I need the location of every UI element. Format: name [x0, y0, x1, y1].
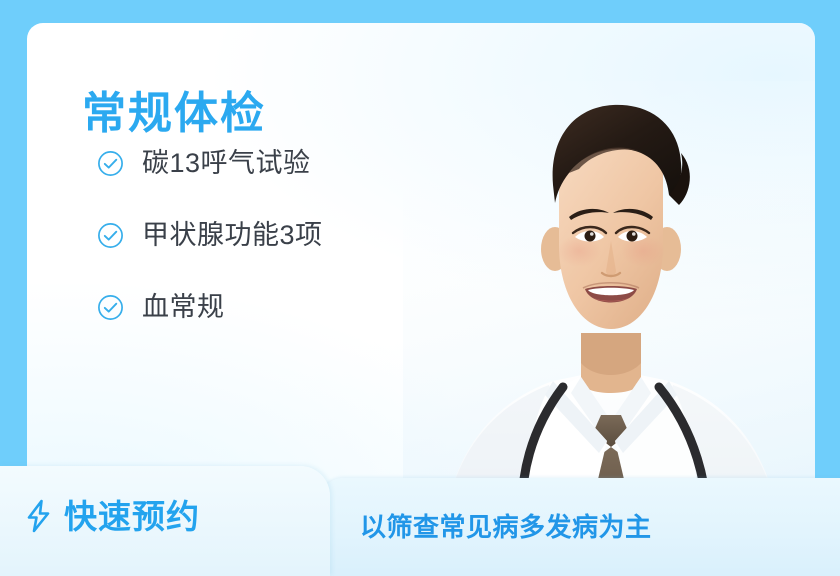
check-circle-icon — [97, 150, 124, 177]
feature-list: 碳13呼气试验 甲状腺功能3项 血常规 — [97, 146, 323, 324]
list-item: 血常规 — [97, 290, 323, 324]
list-item: 碳13呼气试验 — [97, 146, 323, 180]
check-circle-icon — [97, 222, 124, 249]
quick-booking-button[interactable]: 快速预约 — [24, 499, 200, 533]
check-circle-icon — [97, 294, 124, 321]
page-title: 常规体检 — [82, 92, 266, 136]
lightning-bolt-icon — [24, 499, 54, 533]
package-card: 常规体检 碳13呼气试验 甲状腺功能 — [27, 23, 815, 543]
list-item-label: 甲状腺功能3项 — [142, 222, 323, 249]
tagline-panel: 以筛查常见病多发病为主 — [318, 478, 840, 576]
health-checkup-promo-card: 常规体检 碳13呼气试验 甲状腺功能 — [0, 0, 840, 576]
list-item-label: 血常规 — [142, 294, 225, 321]
quick-booking-label: 快速预约 — [64, 500, 200, 533]
list-item-label: 碳13呼气试验 — [142, 150, 311, 177]
tagline-text: 以筛查常见病多发病为主 — [360, 514, 652, 540]
quick-booking-panel[interactable]: 快速预约 — [0, 466, 330, 576]
doctor-portrait — [403, 81, 815, 543]
list-item: 甲状腺功能3项 — [97, 218, 323, 252]
